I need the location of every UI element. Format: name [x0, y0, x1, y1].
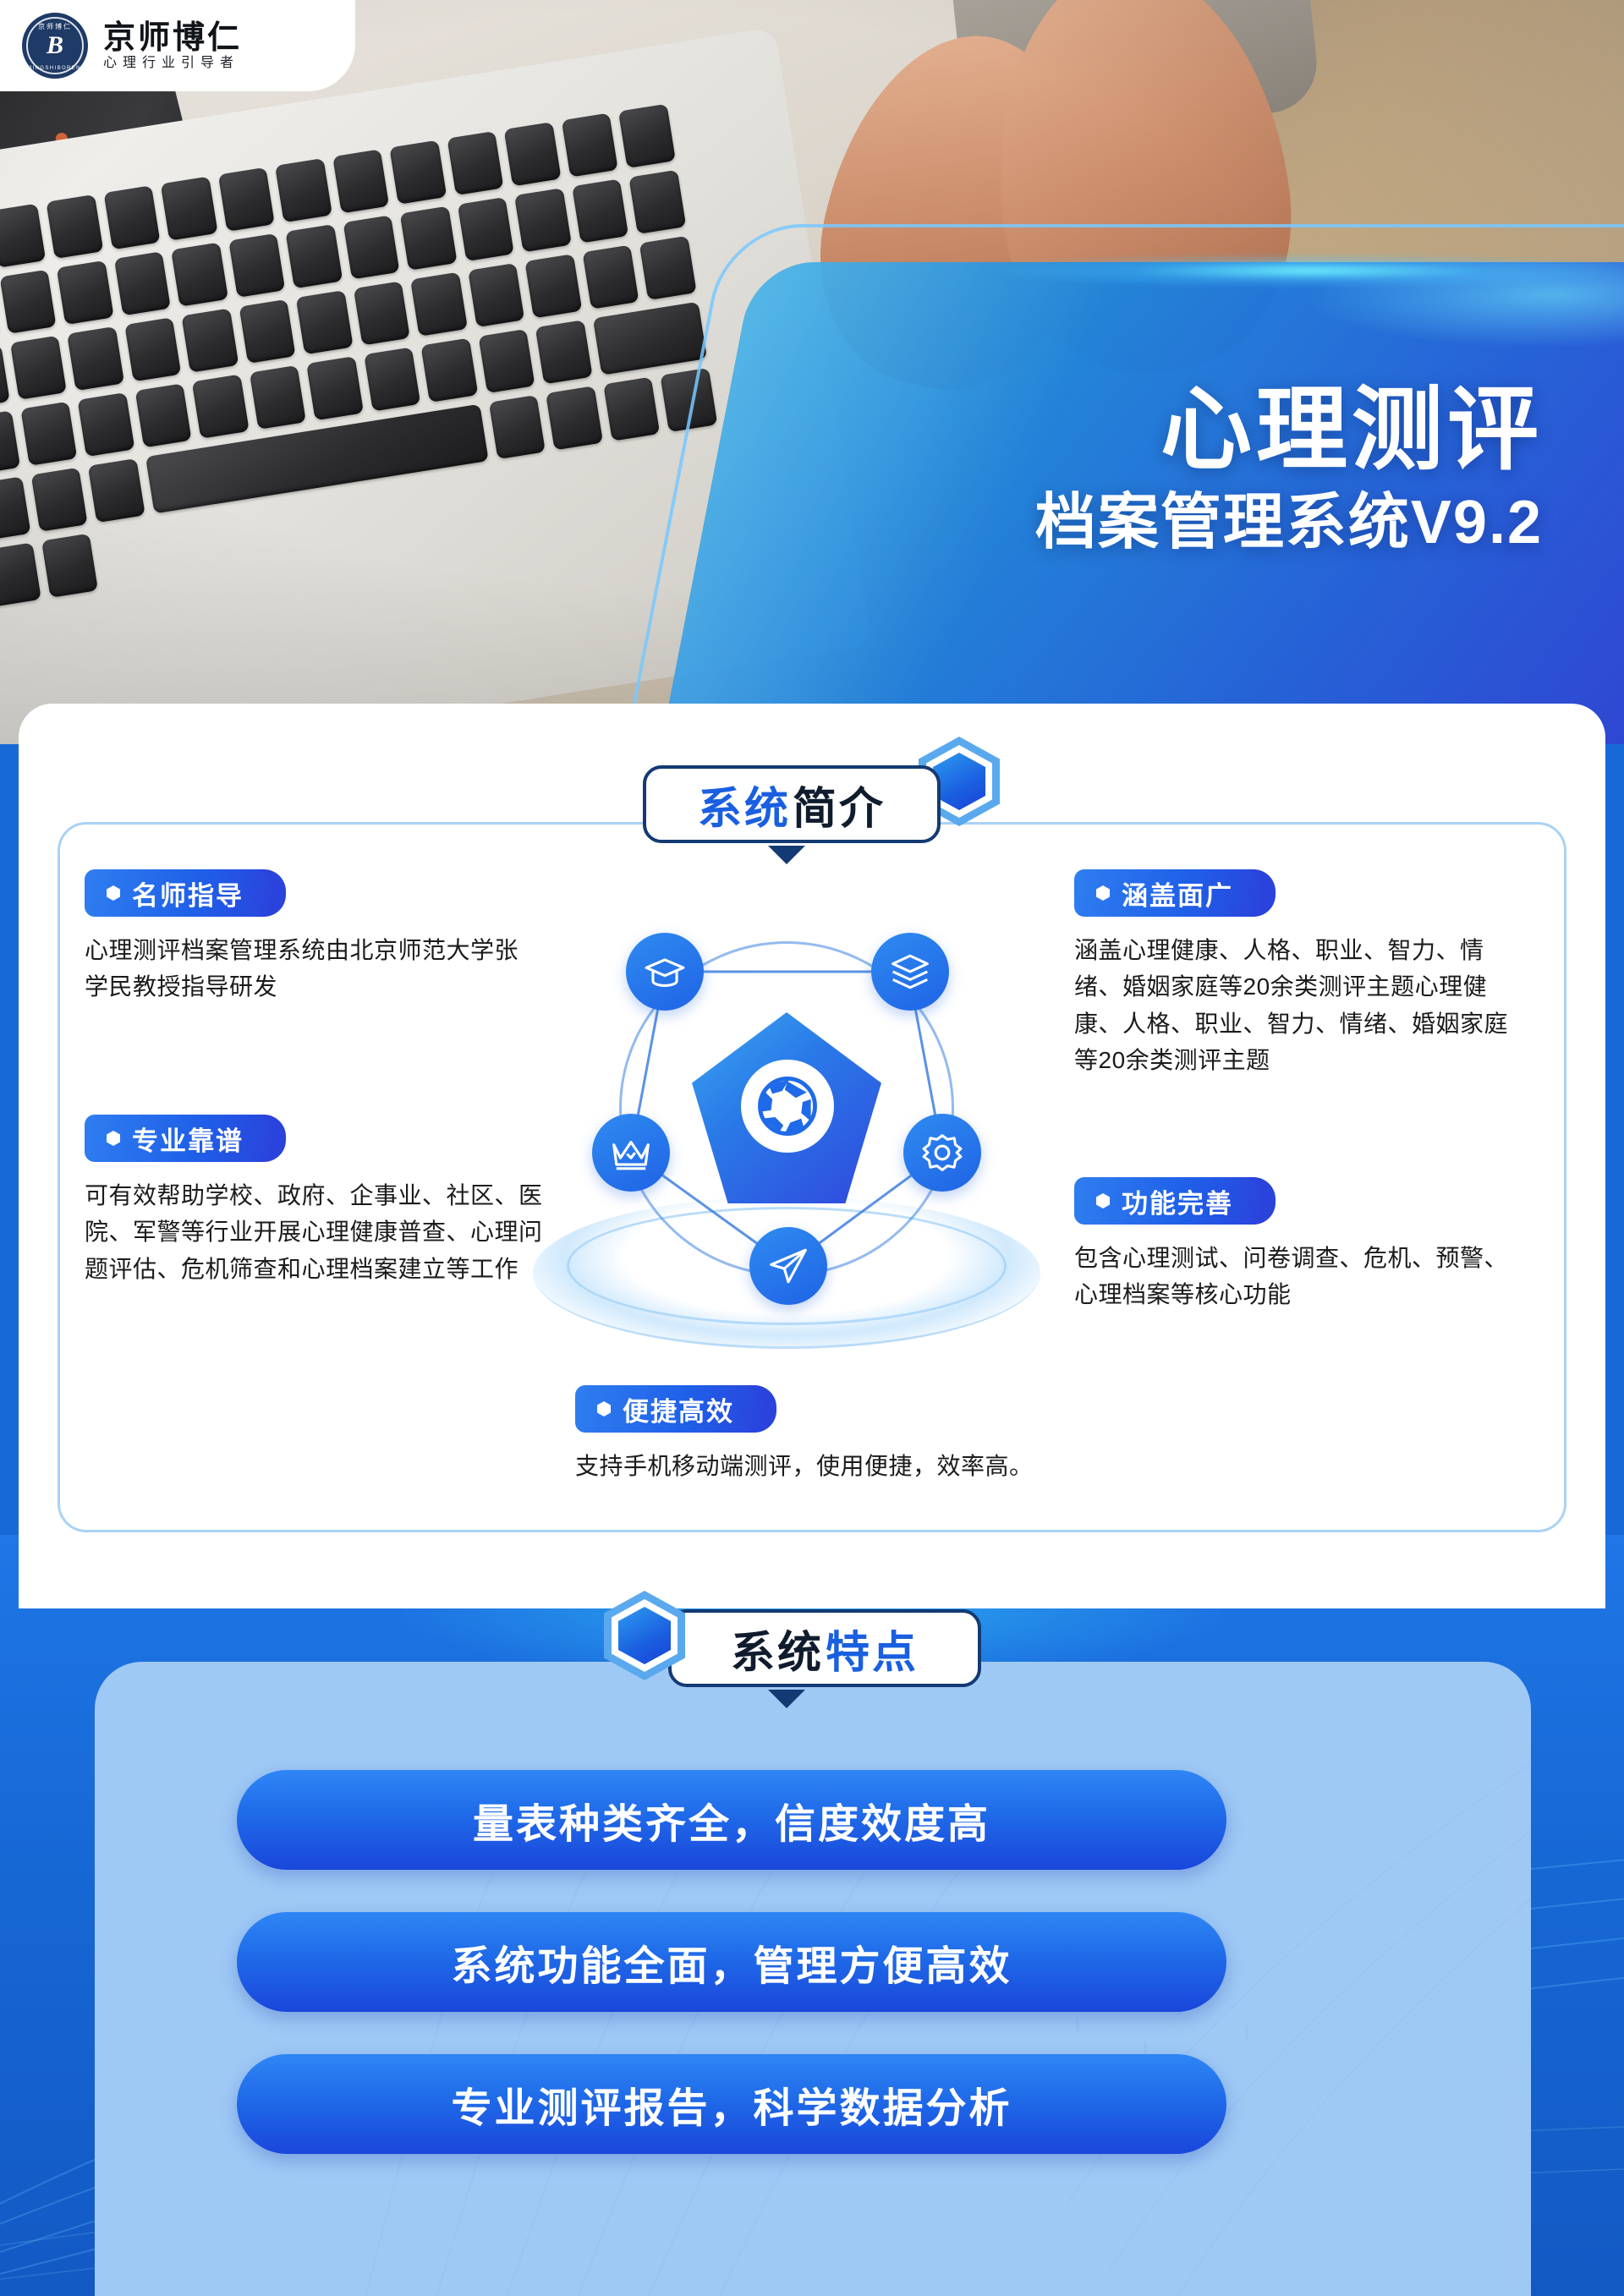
crown-glyph	[610, 1132, 652, 1174]
feature-pill[interactable]: 系统功能全面，管理方便高效	[237, 1912, 1226, 2012]
hexagon-bullet-icon	[107, 1131, 120, 1146]
intro-heading-part1: 系统	[698, 773, 791, 836]
crown-icon	[592, 1114, 670, 1192]
features-heading-part2: 特点	[826, 1617, 919, 1680]
intro-heading-box: 系统 简介	[643, 765, 941, 843]
intro-block-professional: 专业靠谱 可有效帮助学校、政府、企事业、社区、医院、军警等行业开展心理健康普查、…	[85, 1115, 558, 1287]
seal-letter: B	[47, 33, 63, 58]
poster-page: 心理测评 档案管理系统V9.2 京师博仁 B JINGSHIBOREN 京师博仁…	[0, 0, 1624, 2296]
intro-tag-coverage-label: 涵盖面广	[1122, 874, 1233, 912]
hexagon-bullet-icon	[597, 1401, 611, 1417]
section-heading-features: 系统 特点	[636, 1609, 981, 1687]
hero-title-primary: 心理测评	[1035, 381, 1543, 479]
hexagon-icon	[604, 1591, 685, 1680]
feature-pill[interactable]: 量表种类齐全，信度效度高	[237, 1770, 1226, 1870]
hexagon-bullet-icon	[1096, 885, 1110, 901]
intro-tag-coverage: 涵盖面广	[1074, 869, 1262, 917]
intro-text-professional: 可有效帮助学校、政府、企事业、社区、医院、军警等行业开展心理健康普查、心理问题评…	[85, 1177, 558, 1287]
intro-tag-professional-label: 专业靠谱	[132, 1120, 244, 1158]
feature-pill[interactable]: 专业测评报告，科学数据分析	[237, 2054, 1226, 2154]
hero-banner: 心理测评 档案管理系统V9.2	[0, 0, 1624, 744]
intro-tag-professional: 专业靠谱	[85, 1115, 272, 1162]
hero-title-secondary: 档案管理系统V9.2	[1035, 485, 1543, 561]
hero-title-group: 心理测评 档案管理系统V9.2	[1035, 381, 1543, 561]
intro-block-efficient: 便捷高效 支持手机移动端测评，使用便捷，效率高。	[575, 1385, 1083, 1484]
intro-tag-teacher: 名师指导	[85, 869, 272, 917]
intro-text-coverage: 涵盖心理健康、人格、职业、智力、情绪、婚姻家庭等20余类测评主题心理健康、人格、…	[1074, 932, 1531, 1079]
intro-block-coverage: 涵盖面广 涵盖心理健康、人格、职业、智力、情绪、婚姻家庭等20余类测评主题心理健…	[1074, 869, 1531, 1079]
graduation-cap-icon	[626, 933, 704, 1011]
intro-block-function: 功能完善 包含心理测试、问卷调查、危机、预警、心理档案等核心功能	[1074, 1177, 1531, 1313]
aperture-icon	[741, 1060, 834, 1153]
seal-icon: 京师博仁 B JINGSHIBOREN	[22, 13, 88, 79]
graduation-cap-glyph	[644, 951, 686, 993]
intro-text-function: 包含心理测试、问卷调查、危机、预警、心理档案等核心功能	[1074, 1240, 1531, 1313]
hexagon-bullet-icon	[1096, 1193, 1110, 1208]
layers-glyph	[889, 951, 931, 993]
intro-tag-function-label: 功能完善	[1122, 1182, 1233, 1220]
features-heading-part1: 系统	[731, 1617, 824, 1680]
seal-ring-top-text: 京师博仁	[22, 22, 88, 31]
hexagon-bullet-icon	[107, 885, 120, 901]
feature-pill-list: 量表种类齐全，信度效度高 系统功能全面，管理方便高效 专业测评报告，科学数据分析	[237, 1770, 1226, 2154]
central-diagram	[584, 918, 990, 1340]
intro-tag-teacher-label: 名师指导	[132, 874, 244, 912]
paper-plane-glyph	[767, 1245, 809, 1287]
brand-name: 京师博仁	[103, 22, 242, 54]
layers-icon	[871, 933, 949, 1011]
features-heading-box: 系统 特点	[668, 1609, 981, 1687]
brand-logo[interactable]: 京师博仁 B JINGSHIBOREN 京师博仁 心理行业引导者	[0, 0, 355, 91]
intro-text-teacher: 心理测评档案管理系统由北京师范大学张学民教授指导研发	[85, 932, 533, 1006]
gear-icon	[903, 1114, 981, 1192]
intro-heading-part2: 简介	[793, 773, 886, 836]
intro-tag-function: 功能完善	[1074, 1177, 1262, 1225]
brand-text: 京师博仁 心理行业引导者	[103, 22, 242, 70]
section-heading-intro: 系统 简介	[643, 765, 941, 843]
gear-glyph	[921, 1132, 963, 1174]
paper-plane-icon	[749, 1227, 827, 1305]
intro-block-teacher: 名师指导 心理测评档案管理系统由北京师范大学张学民教授指导研发	[85, 869, 533, 1006]
features-heading-pointer	[768, 1690, 805, 1708]
intro-heading-pointer	[768, 846, 805, 864]
intro-tag-efficient-label: 便捷高效	[623, 1390, 734, 1428]
brand-tagline: 心理行业引导者	[103, 57, 242, 70]
seal-ring-bottom-text: JINGSHIBOREN	[22, 66, 88, 71]
aperture-glyph	[754, 1073, 820, 1139]
intro-text-efficient: 支持手机移动端测评，使用便捷，效率高。	[575, 1448, 1083, 1484]
intro-tag-efficient: 便捷高效	[575, 1385, 763, 1433]
hero-light-flare	[998, 254, 1624, 288]
